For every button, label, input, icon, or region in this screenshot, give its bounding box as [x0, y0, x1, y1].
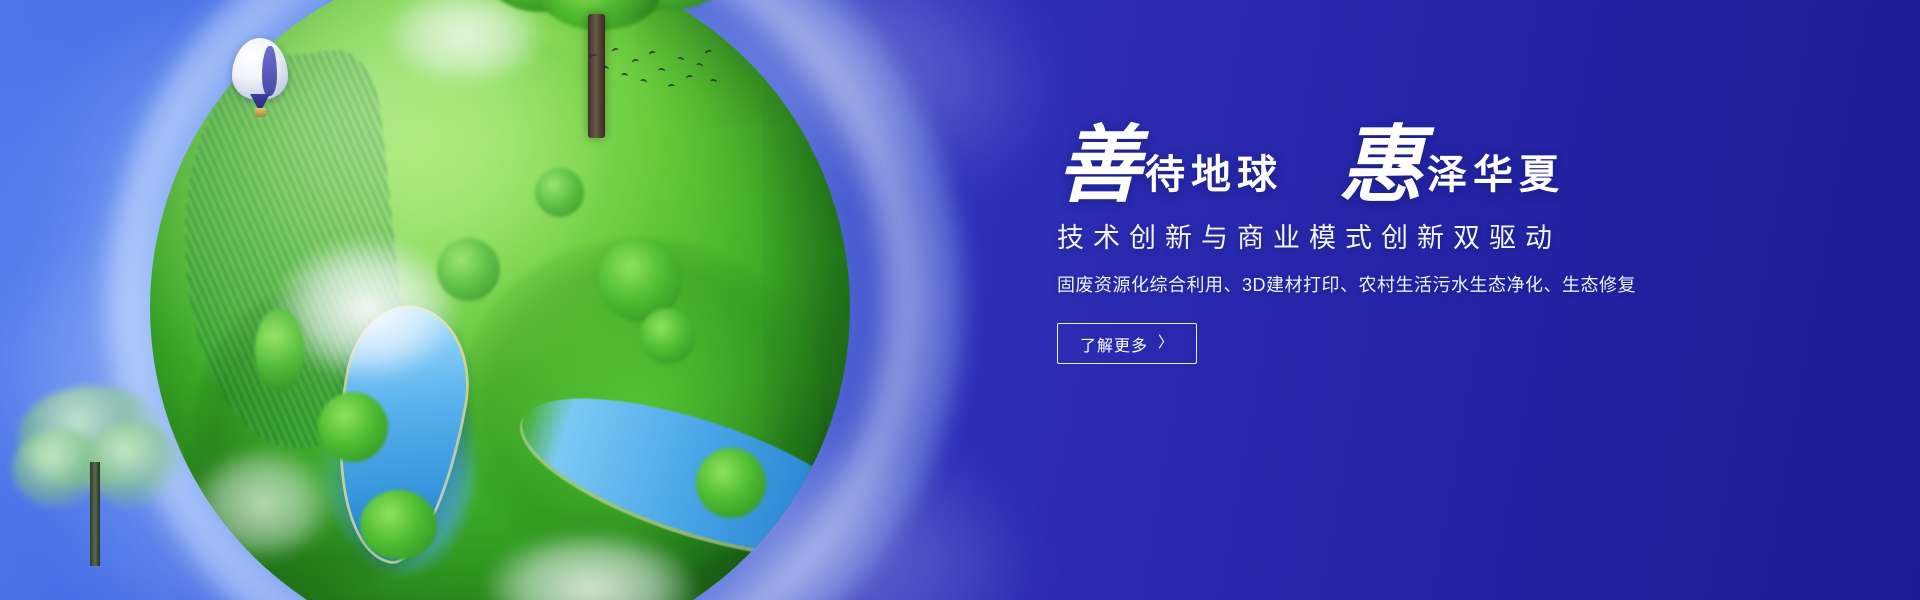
balloon-envelope	[232, 38, 288, 100]
tree-cluster	[696, 448, 766, 518]
learn-more-label: 了解更多	[1080, 332, 1148, 356]
tree-cluster	[535, 168, 584, 217]
chevron-right-icon: 〉	[1158, 335, 1174, 350]
flying-birds-icon	[588, 46, 718, 98]
page-title: 善 待地球 惠 泽华夏	[1057, 128, 1777, 205]
balloon-basket	[255, 108, 266, 117]
balloon-skirt	[250, 94, 270, 108]
river	[506, 366, 850, 585]
tree-trunk	[90, 462, 100, 566]
hero-text-block: 善 待地球 惠 泽华夏 技术创新与商业模式创新双驱动 固废资源化综合利用、3D建…	[1057, 128, 1777, 364]
hero-subtitle: 技术创新与商业模式创新双驱动	[1057, 221, 1777, 256]
hero-description: 固废资源化综合利用、3D建材打印、农村生活污水生态净化、生态修复	[1057, 272, 1777, 299]
tree-cluster	[255, 308, 304, 392]
balloon-stripe	[262, 46, 277, 96]
grass-patch	[458, 238, 822, 574]
tree-cluster	[437, 238, 500, 301]
headline-chars-small-1: 待地球	[1145, 155, 1283, 205]
hot-air-balloon-icon	[232, 38, 288, 124]
tree-cluster	[598, 238, 682, 322]
cloud-patch	[276, 238, 458, 378]
headline-phrase-1: 善 待地球	[1057, 128, 1283, 205]
cloud-patch	[192, 448, 332, 560]
tree-cluster	[318, 392, 388, 462]
lake	[318, 300, 479, 569]
mountain-ridge	[165, 46, 415, 458]
headline-chars-small-2: 泽华夏	[1427, 155, 1565, 205]
headline-phrase-2: 惠 泽华夏	[1339, 128, 1565, 205]
learn-more-button[interactable]: 了解更多 〉	[1057, 323, 1197, 364]
hero-banner: 善 待地球 惠 泽华夏 技术创新与商业模式创新双驱动 固废资源化综合利用、3D建…	[0, 0, 1920, 600]
tree-cluster	[640, 308, 696, 364]
headline-char-big-2: 惠	[1339, 128, 1423, 205]
headline-char-big-1: 善	[1057, 128, 1141, 205]
tree-cluster	[360, 490, 437, 560]
foreground-tree	[12, 392, 182, 572]
tree-canopy	[86, 422, 182, 508]
cloud-patch	[486, 532, 696, 600]
